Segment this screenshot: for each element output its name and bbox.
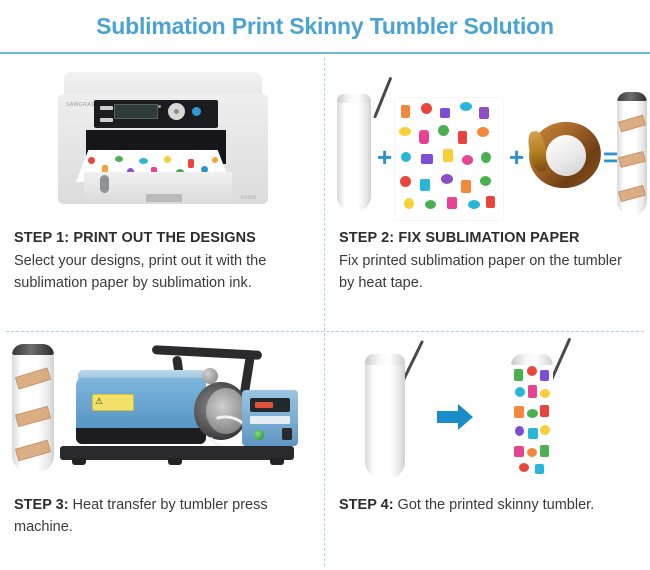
straw-icon	[373, 77, 392, 119]
step-4-label: STEP 4:	[339, 497, 394, 513]
tumbler-wrapped-with-tape	[617, 92, 647, 216]
header: Sublimation Print Skinny Tumbler Solutio…	[0, 0, 650, 52]
step-3-cell: STEP 3: Heat transfer by tumbler press m…	[0, 332, 325, 570]
page-title: Sublimation Print Skinny Tumbler Solutio…	[96, 13, 554, 40]
step-4-text: STEP 4: Got the printed skinny tumbler.	[339, 494, 636, 516]
step-3-text: STEP 3: Heat transfer by tumbler press m…	[14, 494, 311, 538]
step-2-caption: STEP 2: FIX SUBLIMATION PAPER Fix printe…	[325, 230, 650, 294]
infographic-root: Sublimation Print Skinny Tumbler Solutio…	[0, 0, 650, 570]
step-4-body: Got the printed skinny tumbler.	[394, 497, 595, 513]
operator-plus-1: +	[377, 144, 392, 170]
step-3-artwork	[0, 332, 325, 484]
steps-grid: SAWGRASS	[0, 54, 650, 570]
step-4-caption: STEP 4: Got the printed skinny tumbler.	[325, 494, 650, 516]
step-2-heading: STEP 2: FIX SUBLIMATION PAPER	[339, 230, 636, 246]
step-1-body: Select your designs, print out it with t…	[14, 250, 311, 294]
sublimation-paper	[395, 98, 503, 220]
step-2-body: Fix printed sublimation paper on the tum…	[339, 250, 636, 294]
step-1-heading: STEP 1: PRINT OUT THE DESIGNS	[14, 230, 311, 246]
step-2-equation: +	[325, 64, 650, 229]
step-3-caption: STEP 3: Heat transfer by tumbler press m…	[0, 494, 325, 538]
heat-tape-roll	[529, 122, 601, 188]
horizontal-divider	[6, 331, 644, 332]
step-2-artwork: +	[325, 54, 650, 224]
blank-tumbler	[337, 94, 371, 212]
blank-tumbler-result	[365, 354, 405, 478]
printed-tumbler	[511, 354, 553, 478]
step-3-label: STEP 3:	[14, 497, 69, 513]
step-2-cell: +	[325, 54, 650, 332]
operator-plus-2: +	[509, 144, 524, 170]
step-4-cell: STEP 4: Got the printed skinny tumbler.	[325, 332, 650, 570]
tumbler-heat-press-icon	[56, 342, 296, 482]
sublimation-printer-icon: SAWGRASS	[58, 72, 268, 207]
step-4-artwork	[325, 332, 650, 484]
step-1-caption: STEP 1: PRINT OUT THE DESIGNS Select you…	[0, 230, 325, 294]
step-1-artwork: SAWGRASS	[0, 54, 325, 224]
vertical-divider	[324, 58, 325, 566]
taped-tumbler	[12, 344, 54, 472]
step-1-cell: SAWGRASS	[0, 54, 325, 332]
operator-equals: =	[603, 144, 618, 170]
